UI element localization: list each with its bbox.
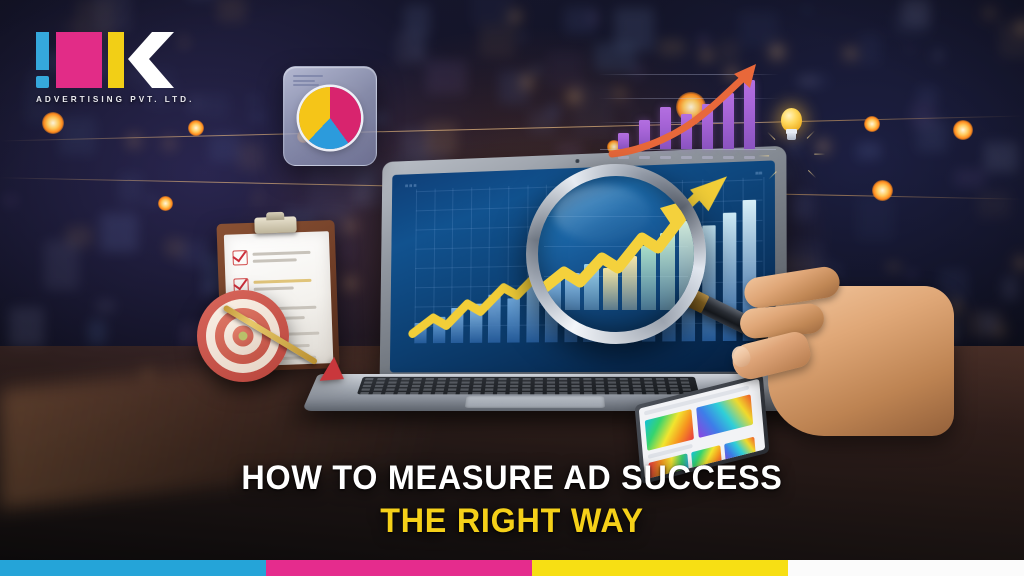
checklist-line (252, 251, 310, 256)
webcam-icon (575, 159, 579, 163)
bokeh-square (88, 320, 106, 344)
laptop-keyboard (357, 377, 699, 394)
bokeh-square (66, 226, 93, 247)
screen-text-label: ▤▤ (755, 171, 762, 175)
checklist-line (253, 279, 311, 284)
footer-segment-magenta (266, 560, 532, 576)
bokeh-square (893, 9, 928, 36)
bokeh-square (857, 142, 881, 159)
screen-text-label: ▤ ▤ ▤ (405, 184, 417, 188)
marketing-banner: ▤ ▤ ▤ ▤▤ (0, 0, 1024, 576)
checkmark-icon (232, 250, 248, 266)
bokeh-square (911, 103, 935, 127)
company-logo[interactable]: ADVERTISING PVT. LTD. (36, 32, 206, 104)
footer-segment-cyan (0, 560, 266, 576)
bokeh-square (905, 46, 915, 53)
bokeh-square (589, 11, 599, 26)
headline-block: HOW TO MEASURE AD SUCCESS THE RIGHT WAY (0, 460, 1024, 540)
bokeh-square (4, 195, 17, 206)
bokeh-square (499, 71, 529, 104)
bokeh-square (209, 133, 239, 163)
footer-segment-yellow (532, 560, 788, 576)
bokeh-square (659, 39, 685, 56)
bokeh-square (471, 0, 513, 25)
bokeh-glow-dot (847, 50, 854, 57)
bokeh-square (479, 24, 515, 57)
logo-letter-k (128, 32, 174, 88)
bulb-base (787, 133, 796, 140)
string-light-dot (158, 196, 173, 211)
checklist-line (253, 258, 297, 263)
bokeh-square (59, 117, 95, 155)
pie-chart-card (283, 66, 377, 166)
bokeh-square (404, 5, 430, 37)
bokeh-square (1002, 277, 1019, 300)
bokeh-square (217, 0, 246, 22)
string-light-dot (188, 120, 204, 136)
bokeh-glow-dot (512, 13, 519, 20)
bokeh-square (917, 86, 938, 105)
magnifier-lens (538, 176, 694, 332)
bokeh-square (238, 143, 263, 169)
cmyk-footer-bar (0, 560, 1024, 576)
laptop-trackpad (465, 396, 605, 408)
bokeh-square (739, 11, 778, 47)
bokeh-glow-dot (999, 329, 1002, 332)
lightbulb-icon (768, 100, 814, 154)
bokeh-glow-dot (167, 141, 172, 146)
bokeh-square (426, 60, 467, 94)
bokeh-square (530, 66, 542, 75)
magnifying-glass (526, 164, 706, 344)
bokeh-square (546, 103, 561, 121)
lens-trend-arrow-icon (538, 176, 694, 332)
bokeh-square (933, 50, 943, 61)
bokeh-square (44, 240, 79, 289)
bokeh-square (250, 112, 264, 121)
logo-mark (36, 32, 186, 88)
string-light-dot (953, 120, 973, 140)
string-light-dot (872, 180, 893, 201)
bulb-ray (758, 155, 769, 156)
bokeh-square (856, 195, 894, 242)
bokeh-square (518, 34, 527, 40)
bokeh-square (148, 195, 158, 207)
bokeh-square (118, 173, 143, 204)
keyboard-row (361, 388, 695, 391)
string-light-dot (864, 116, 880, 132)
bokeh-square (100, 213, 138, 252)
bokeh-glow-dot (772, 47, 782, 57)
bokeh-glow-dot (819, 142, 828, 151)
hand-holding-magnifier (722, 262, 952, 452)
keyboard-row (360, 392, 696, 395)
logo-tagline: ADVERTISING PVT. LTD. (36, 95, 206, 104)
target-bullseye (239, 332, 248, 341)
logo-exclamation-dot (36, 76, 49, 88)
bokeh-glow-dot (987, 11, 991, 15)
clipboard-clip-top (266, 212, 284, 221)
bokeh-square (253, 191, 264, 206)
bokeh-square (977, 191, 1010, 218)
footer-segment-white (788, 560, 1024, 576)
dartboard-target (197, 290, 289, 382)
bokeh-square (859, 33, 881, 65)
pie-chart-graphic (299, 87, 361, 149)
bokeh-glow-dot (523, 79, 530, 86)
bokeh-square (411, 41, 423, 59)
bokeh-square (378, 78, 386, 90)
logo-letter-n (56, 32, 102, 88)
logo-exclamation-bar (36, 32, 49, 70)
bokeh-square (425, 122, 457, 155)
bokeh-glow-dot (569, 92, 579, 102)
bokeh-square (981, 314, 997, 333)
bokeh-square (249, 95, 260, 104)
headline-line-1: HOW TO MEASURE AD SUCCESS (26, 460, 999, 497)
bokeh-square (204, 93, 229, 119)
card-header-lines (293, 75, 323, 89)
headline-line-2: THE RIGHT WAY (26, 503, 999, 540)
keyboard-row (365, 378, 693, 381)
floating-bar-chart (598, 58, 780, 170)
bokeh-glow-dot (1019, 23, 1024, 32)
bokeh-square (96, 300, 115, 311)
bokeh-glow-dot (1018, 260, 1024, 266)
logo-yellow-bar (108, 32, 124, 88)
bokeh-square (791, 193, 813, 220)
string-light-dot (42, 112, 64, 134)
bokeh-square (9, 307, 44, 348)
growth-arrow-icon (598, 58, 780, 170)
bokeh-square (803, 5, 812, 16)
bokeh-square (954, 169, 985, 187)
bokeh-square (699, 35, 709, 47)
keyboard-row (364, 381, 694, 384)
bokeh-square (798, 75, 818, 87)
bokeh-square (984, 142, 1018, 172)
bokeh-square (165, 238, 185, 257)
keyboard-row (362, 385, 694, 388)
bulb-ray (767, 131, 776, 140)
bokeh-glow-dot (131, 138, 137, 144)
